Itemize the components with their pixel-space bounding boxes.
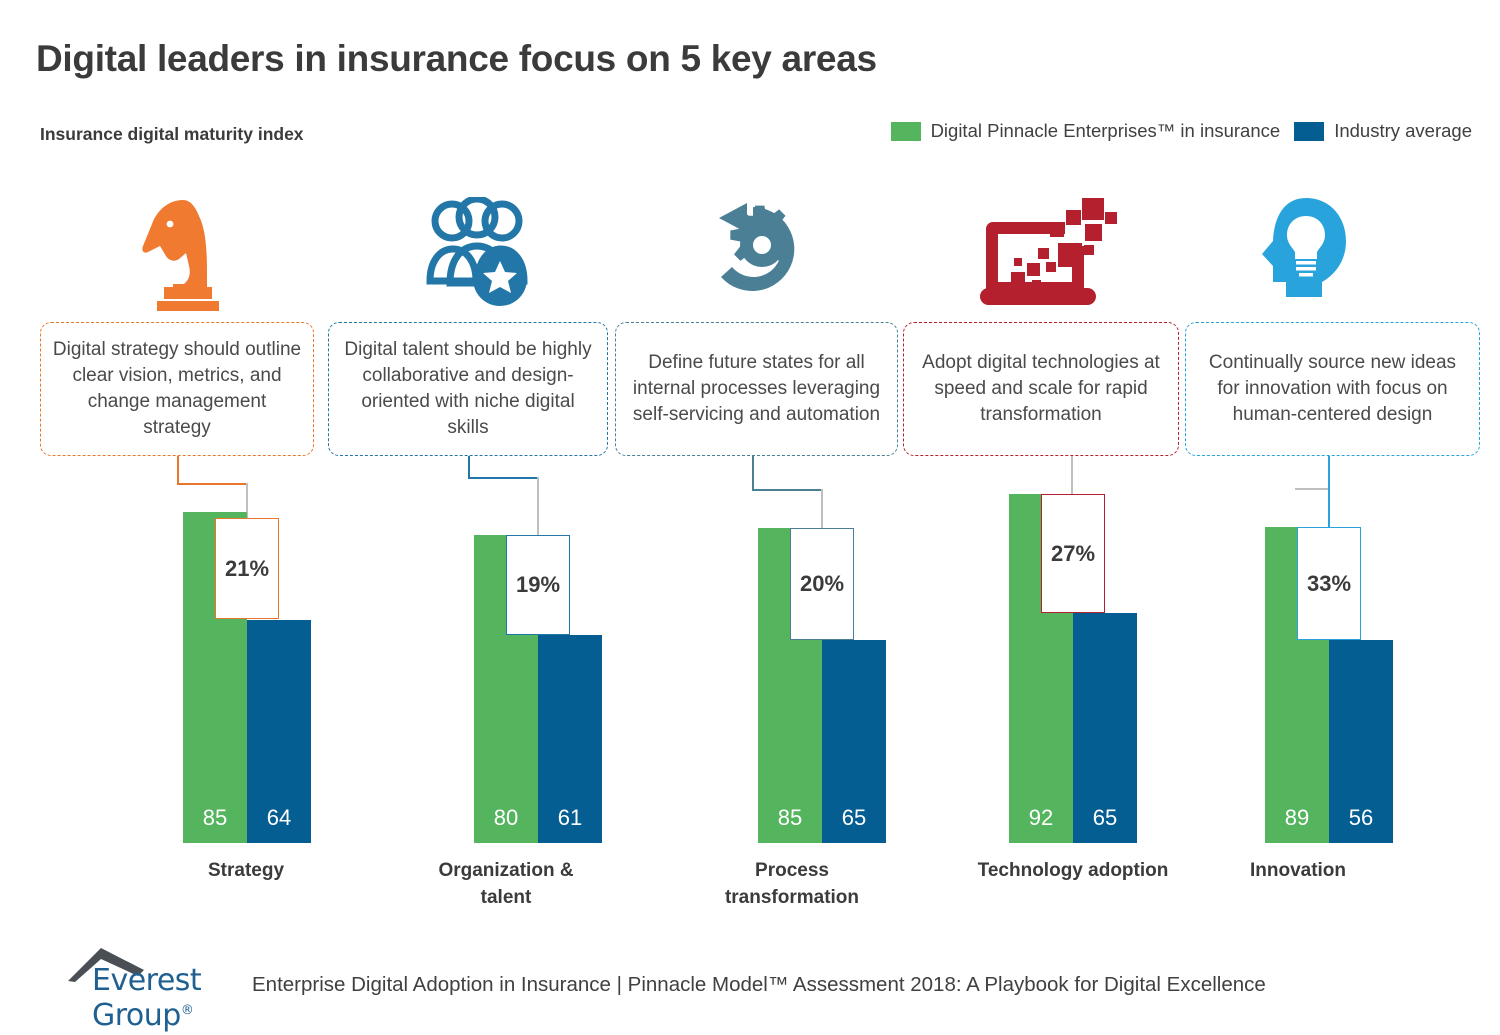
- gap-badge-technology: 27%: [1041, 494, 1105, 613]
- gap-label-process: 20%: [800, 571, 844, 597]
- gap-label-technology: 27%: [1051, 541, 1095, 567]
- connector-organization-drop: [537, 477, 539, 535]
- connector-organization-v1: [468, 456, 470, 478]
- bar-value-strategy-industry: 64: [247, 805, 311, 831]
- connector-technology-drop: [1071, 456, 1073, 494]
- category-label-innovation: Innovation: [1225, 857, 1371, 884]
- bar-technology-industry: 65: [1073, 613, 1137, 843]
- bar-value-organization-industry: 61: [538, 805, 602, 831]
- bar-value-process-pinnacle: 85: [758, 805, 822, 831]
- connector-process-drop: [821, 489, 823, 528]
- group-innovation: Continually source new ideas for innovat…: [1185, 0, 1500, 1035]
- brand-name: Everest Group: [92, 963, 201, 1033]
- everest-group-logo: Everest Group®: [66, 946, 248, 1004]
- callout-text-strategy: Digital strategy should outline clear vi…: [52, 337, 302, 441]
- bar-organization-industry: 61: [538, 635, 602, 843]
- bar-value-organization-pinnacle: 80: [474, 805, 538, 831]
- gap-badge-process: 20%: [790, 528, 854, 640]
- category-label-organization: Organization & talent: [433, 857, 579, 911]
- callout-text-process-transformation: Define future states for all internal pr…: [627, 350, 886, 428]
- group-technology-adoption: Adopt digital technologies at speed and …: [900, 0, 1185, 1035]
- bar-value-strategy-pinnacle: 85: [183, 805, 247, 831]
- gap-label-organization: 19%: [516, 572, 560, 598]
- bar-value-technology-pinnacle: 92: [1009, 805, 1073, 831]
- group-strategy: Digital strategy should outline clear vi…: [0, 0, 320, 1035]
- group-organization-talent: Digital talent should be highly collabor…: [320, 0, 615, 1035]
- laptop-pixels-icon: [962, 193, 1132, 313]
- category-label-strategy: Strategy: [146, 857, 346, 884]
- footer: Everest Group® Enterprise Digital Adopti…: [66, 946, 1266, 1004]
- bar-process-industry: 65: [822, 640, 886, 843]
- registered-mark: ®: [181, 1003, 194, 1018]
- callout-strategy: Digital strategy should outline clear vi…: [40, 322, 314, 456]
- callout-innovation: Continually source new ideas for innovat…: [1185, 322, 1480, 456]
- gap-badge-innovation: 33%: [1297, 527, 1361, 640]
- callout-text-innovation: Continually source new ideas for innovat…: [1197, 350, 1468, 428]
- people-group-star-icon: [412, 193, 542, 313]
- category-label-technology: Technology adoption: [963, 857, 1183, 884]
- callout-text-technology-adoption: Adopt digital technologies at speed and …: [915, 350, 1167, 428]
- gap-label-strategy: 21%: [225, 556, 269, 582]
- connector-innovation-h: [1295, 488, 1329, 490]
- connector-process-v1: [752, 456, 754, 490]
- gap-badge-organization: 19%: [506, 535, 570, 635]
- bar-value-innovation-industry: 56: [1329, 805, 1393, 831]
- callout-organization-talent: Digital talent should be highly collabor…: [328, 322, 608, 456]
- connector-strategy-v1: [177, 456, 179, 484]
- gear-refresh-icon: [692, 193, 822, 313]
- bar-strategy-industry: 64: [247, 620, 311, 843]
- footer-caption: Enterprise Digital Adoption in Insurance…: [252, 973, 1266, 1004]
- category-label-process: Process transformation: [719, 857, 865, 911]
- connector-innovation-v1: [1328, 456, 1330, 489]
- connector-process-h: [752, 489, 822, 491]
- connector-organization-h: [468, 477, 538, 479]
- bar-value-innovation-pinnacle: 89: [1265, 805, 1329, 831]
- connector-innovation-v2: [1328, 488, 1330, 527]
- bar-innovation-industry: 56: [1329, 640, 1393, 843]
- callout-text-organization-talent: Digital talent should be highly collabor…: [340, 337, 596, 441]
- everest-group-wordmark: Everest Group®: [92, 963, 248, 1033]
- group-process-transformation: Define future states for all internal pr…: [615, 0, 900, 1035]
- bar-value-process-industry: 65: [822, 805, 886, 831]
- bar-value-technology-industry: 65: [1073, 805, 1137, 831]
- callout-technology-adoption: Adopt digital technologies at speed and …: [903, 322, 1179, 456]
- gap-label-innovation: 33%: [1307, 571, 1351, 597]
- connector-strategy-h: [177, 483, 247, 485]
- gap-badge-strategy: 21%: [215, 518, 279, 619]
- callout-process-transformation: Define future states for all internal pr…: [615, 322, 898, 456]
- head-lightbulb-icon: [1233, 193, 1363, 313]
- chess-knight-icon: [116, 193, 246, 313]
